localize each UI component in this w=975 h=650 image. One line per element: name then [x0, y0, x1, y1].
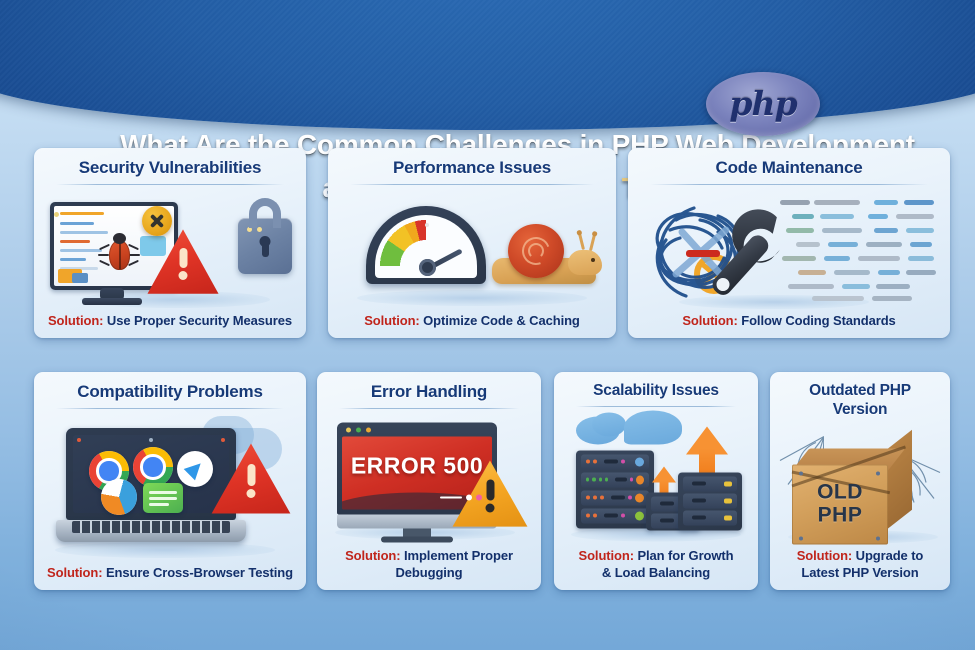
card-solution: Solution: Ensure Cross-Browser Testing — [42, 564, 298, 582]
card-title: Performance Issues — [336, 157, 608, 178]
firefox-icon — [143, 483, 183, 513]
card-security-vulnerabilities[interactable]: Security Vulnerabilities — [34, 148, 306, 338]
infographic-root: What Are the Common Challenges in PHP We… — [0, 0, 975, 650]
solution-text: Ensure Cross-Browser Testing — [106, 565, 293, 580]
window-controls — [346, 427, 371, 432]
title-divider — [350, 184, 594, 185]
card-illustration-compatibility — [42, 412, 298, 564]
card-title: Code Maintenance — [636, 157, 942, 178]
card-outdated-php-version[interactable]: Outdated PHP Version — [770, 372, 950, 590]
card-title: Scalability Issues — [562, 381, 750, 400]
monitor-led — [54, 212, 59, 217]
card-solution: Solution: Use Proper Security Measures — [42, 312, 298, 330]
server-rack-icon — [678, 472, 742, 530]
monitor-base — [82, 298, 142, 305]
box-text-line-1: OLD — [817, 482, 863, 504]
title-divider — [576, 406, 736, 407]
solution-text-line-2: Latest PHP Version — [778, 564, 942, 581]
bug-icon — [102, 232, 136, 272]
solution-text: Optimize Code & Caching — [423, 313, 580, 328]
cloud-icon — [624, 410, 682, 444]
warning-triangle-icon — [210, 442, 292, 518]
title-divider — [56, 184, 284, 185]
card-illustration-security — [42, 188, 298, 312]
title-divider — [56, 408, 284, 409]
solution-label: Solution: — [47, 565, 102, 580]
card-solution: Solution: Optimize Code & Caching — [336, 312, 608, 330]
chrome-icon — [133, 447, 173, 487]
card-solution: Solution: Plan for Growth & Load Balanci… — [562, 547, 750, 582]
padlock-shackle — [249, 198, 281, 228]
warning-triangle-icon — [146, 228, 220, 298]
card-solution: Solution: Upgrade to Latest PHP Version — [778, 547, 942, 582]
card-grid: Security Vulnerabilities — [0, 0, 975, 650]
solution-text: Follow Coding Standards — [741, 313, 895, 328]
card-title: Outdated PHP Version — [778, 381, 942, 419]
safari-icon — [177, 451, 213, 487]
card-title-line-1: Outdated PHP — [778, 381, 942, 400]
ground-shadow — [357, 290, 587, 306]
solution-label: Solution: — [797, 548, 852, 563]
card-scalability-issues[interactable]: Scalability Issues — [554, 372, 758, 590]
solution-text-line-1: Upgrade to — [856, 548, 924, 563]
edge-icon — [101, 479, 137, 515]
solution-text-line-1: Plan for Growth — [637, 548, 733, 563]
title-divider — [650, 184, 928, 185]
solution-label: Solution: — [345, 548, 400, 563]
speedometer-icon — [366, 206, 486, 284]
snail-icon — [492, 224, 602, 286]
card-illustration-performance — [336, 188, 608, 312]
solution-text-line-2: & Load Balancing — [562, 564, 750, 581]
solution-text-line-1: Implement Proper — [404, 548, 513, 563]
server-rack-icon — [576, 450, 654, 528]
card-title: Error Handling — [325, 381, 533, 402]
box-text-line-2: PHP — [818, 505, 863, 527]
cloud-icon — [592, 412, 626, 436]
solution-label: Solution: — [364, 313, 419, 328]
card-illustration-code-maintenance — [636, 188, 942, 312]
card-title: Compatibility Problems — [42, 381, 298, 402]
cardboard-box-icon: OLD PHP — [792, 448, 912, 544]
wrench-icon — [690, 204, 810, 314]
card-title-line-2: Version — [778, 400, 942, 419]
solution-label: Solution: — [579, 548, 634, 563]
card-illustration-error-handling: ERROR 500 — [325, 412, 533, 547]
solution-text: Use Proper Security Measures — [107, 313, 292, 328]
card-compatibility-problems[interactable]: Compatibility Problems — [34, 372, 306, 590]
card-performance-issues[interactable]: Performance Issues — [328, 148, 616, 338]
solution-label: Solution: — [682, 313, 737, 328]
card-solution: Solution: Follow Coding Standards — [636, 312, 942, 330]
card-illustration-scalability — [562, 410, 750, 547]
card-illustration-outdated-php: OLD PHP — [778, 422, 942, 547]
solution-label: Solution: — [48, 313, 103, 328]
card-title: Security Vulnerabilities — [42, 157, 298, 178]
card-error-handling[interactable]: Error Handling ERROR 500 — [317, 372, 541, 590]
title-divider — [339, 408, 519, 409]
solution-text-line-2: Debugging — [325, 564, 533, 581]
error-screen-text: ERROR 500 — [351, 452, 483, 479]
card-solution: Solution: Implement Proper Debugging — [325, 547, 533, 582]
card-code-maintenance[interactable]: Code Maintenance — [628, 148, 950, 338]
